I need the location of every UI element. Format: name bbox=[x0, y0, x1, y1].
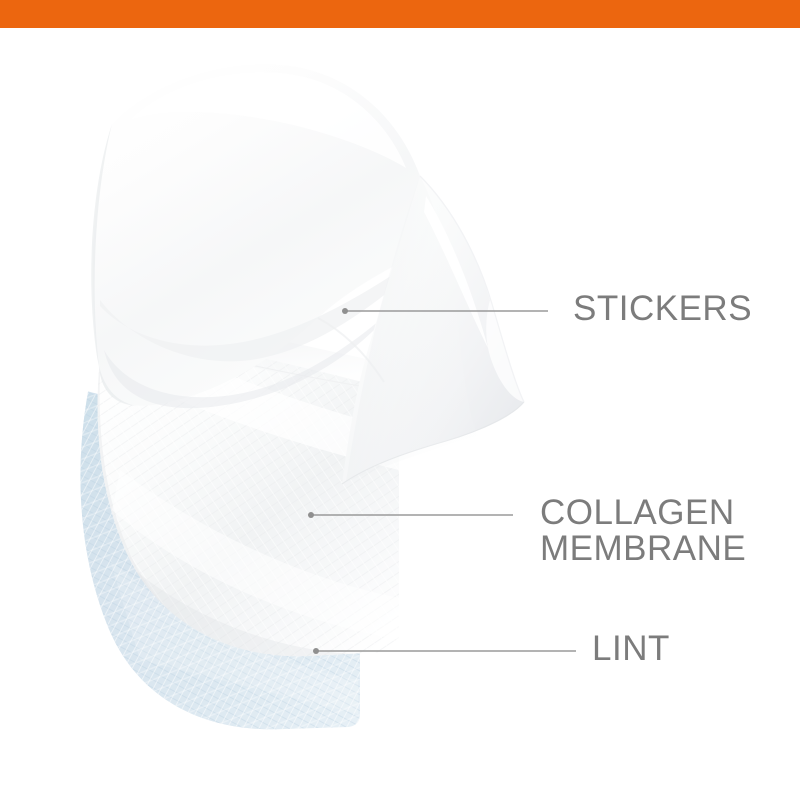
callout-lint: LINT bbox=[592, 631, 670, 667]
callout-collagen-membrane: COLLAGEN MEMBRANE bbox=[540, 495, 746, 568]
callout-stickers: STICKERS bbox=[573, 291, 752, 327]
layered-mask-illustration bbox=[0, 0, 800, 800]
callout-label-collagen-line1: COLLAGEN bbox=[540, 493, 735, 532]
callout-label-stickers: STICKERS bbox=[573, 291, 752, 327]
product-diagram-canvas: STICKERS COLLAGEN MEMBRANE LINT bbox=[0, 0, 800, 800]
callout-label-lint: LINT bbox=[592, 631, 670, 667]
callout-label-collagen-line2: MEMBRANE bbox=[540, 531, 746, 567]
callout-label-collagen-membrane: COLLAGEN MEMBRANE bbox=[540, 495, 746, 568]
